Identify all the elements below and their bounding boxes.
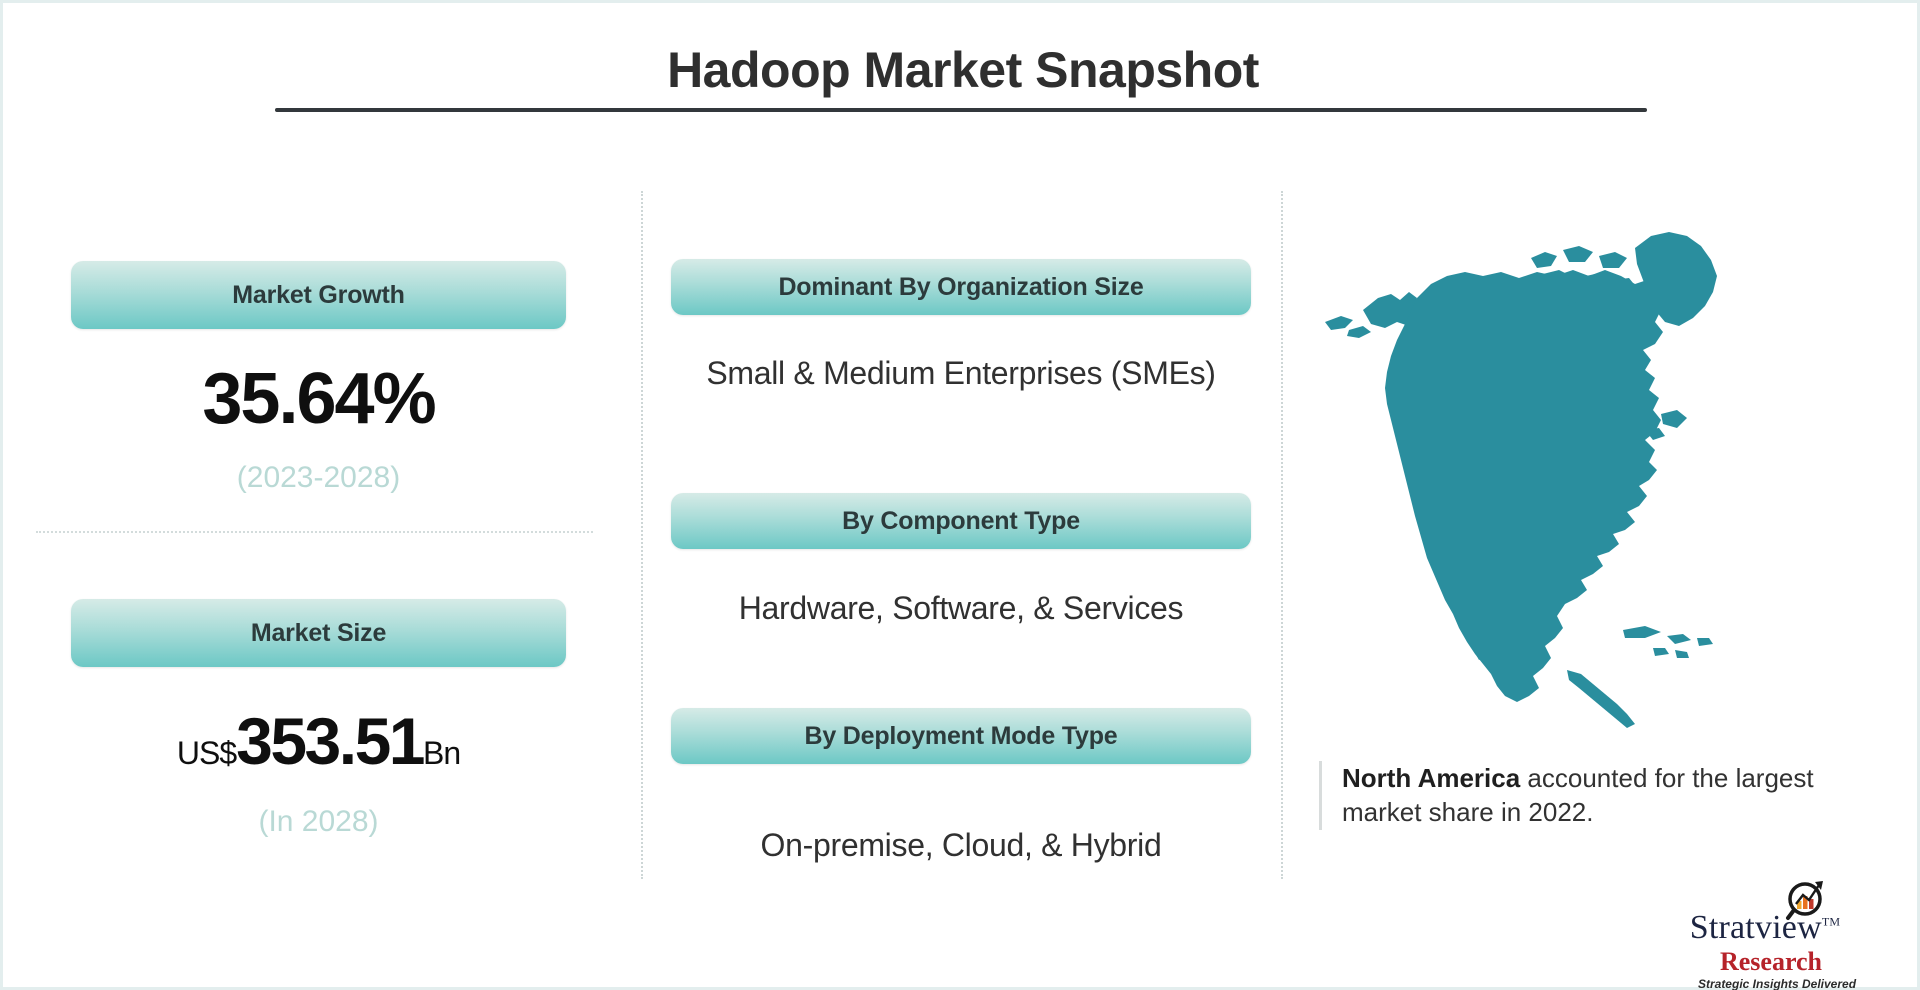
segment-value-deployment-mode: On-premise, Cloud, & Hybrid — [661, 825, 1261, 867]
market-size-pill: Market Size — [71, 599, 566, 667]
right-column: North America accounted for the largest … — [1281, 3, 1920, 990]
left-column: Market Growth 35.64% (2023-2028) Market … — [3, 3, 641, 990]
market-size-currency: US$ — [177, 735, 236, 771]
logo-name-text: Stratview — [1690, 909, 1822, 946]
logo-secondary: Research — [1663, 947, 1879, 977]
market-size-number: 353.51 — [236, 704, 423, 778]
market-growth-label: Market Growth — [232, 281, 404, 310]
market-size-unit: Bn — [423, 735, 460, 771]
region-note: North America accounted for the largest … — [1319, 761, 1859, 830]
north-america-map — [1305, 218, 1735, 748]
market-growth-pill: Market Growth — [71, 261, 566, 329]
segment-pill-component-type: By Component Type — [671, 493, 1251, 549]
segment-value-component-type: Hardware, Software, & Services — [661, 588, 1261, 630]
region-note-bold: North America — [1342, 763, 1520, 793]
segment-label-deployment-mode: By Deployment Mode Type — [804, 722, 1117, 751]
market-size-period: (In 2028) — [71, 805, 566, 839]
segment-pill-deployment-mode: By Deployment Mode Type — [671, 708, 1251, 764]
logo-trademark: TM — [1822, 915, 1840, 929]
market-growth-period: (2023-2028) — [71, 461, 566, 495]
segment-pill-organization-size: Dominant By Organization Size — [671, 259, 1251, 315]
stratview-logo: StratviewTM Research Strategic Insights … — [1663, 883, 1893, 983]
market-size-label: Market Size — [251, 619, 386, 648]
segment-value-organization-size: Small & Medium Enterprises (SMEs) — [661, 353, 1261, 395]
infographic-canvas: Hadoop Market Snapshot Market Growth 35.… — [0, 0, 1920, 990]
segment-label-organization-size: Dominant By Organization Size — [778, 273, 1143, 302]
logo-tagline: Strategic Insights Delivered — [1663, 977, 1891, 990]
market-size-value: US$353.51Bn — [71, 703, 566, 779]
segment-label-component-type: By Component Type — [842, 507, 1080, 536]
market-growth-value: 35.64% — [71, 358, 566, 440]
middle-column: Dominant By Organization Size Small & Me… — [641, 3, 1281, 990]
logo-name: StratviewTM — [1663, 909, 1867, 947]
